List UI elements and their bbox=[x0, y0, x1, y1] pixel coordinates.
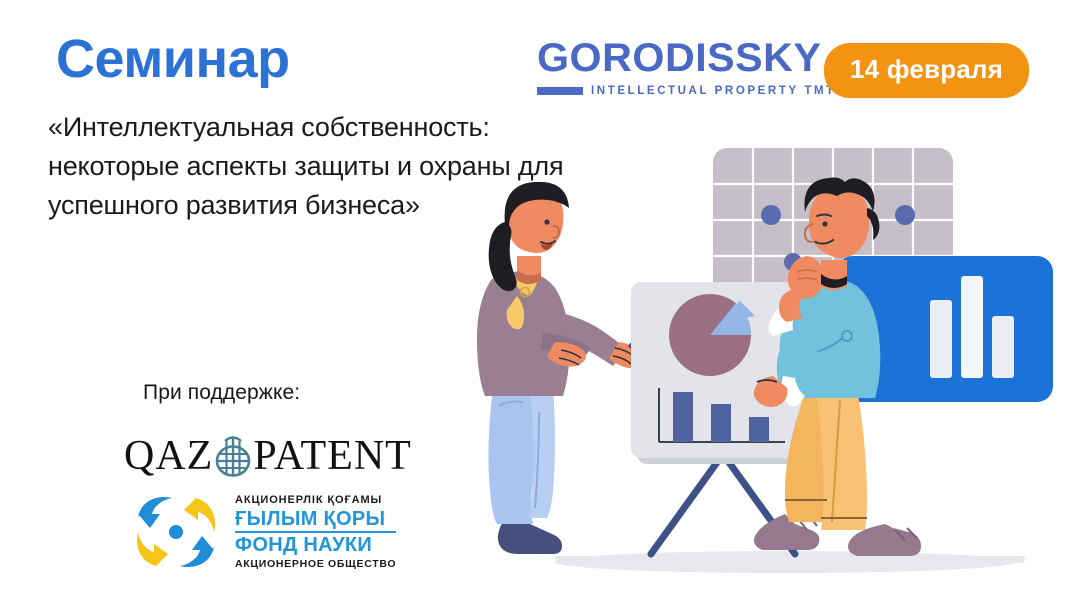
qazpatent-text-left: QAZ bbox=[124, 435, 213, 477]
page-title: Семинар bbox=[56, 32, 290, 86]
support-label: При поддержке: bbox=[143, 381, 300, 405]
pinwheel-arrows-icon bbox=[128, 488, 224, 576]
gorodissky-logo: GORODISSKY INTELLECTUAL PROPERTY TMT bbox=[537, 38, 797, 97]
fund-line-kz-top: АКЦИОНЕРЛІК ҚОҒАМЫ bbox=[235, 495, 396, 506]
fund-of-science-logo: АКЦИОНЕРЛІК ҚОҒАМЫ ҒЫЛЫМ ҚОРЫ ФОНД НАУКИ… bbox=[128, 488, 396, 576]
gorodissky-tagline: INTELLECTUAL PROPERTY TMT bbox=[591, 85, 836, 97]
poster-canvas: Семинар «Интеллектуальная собственность:… bbox=[0, 0, 1080, 608]
shanyrak-emblem-icon bbox=[211, 432, 255, 480]
qazpatent-logo: QAZ PATENT bbox=[124, 432, 412, 480]
gorodissky-wordmark: GORODISSKY bbox=[537, 38, 805, 78]
date-badge: 14 февраля bbox=[824, 43, 1029, 98]
fund-divider bbox=[235, 531, 396, 533]
fund-line-ru-main: ФОНД НАУКИ bbox=[235, 535, 396, 555]
fund-text-block: АКЦИОНЕРЛІК ҚОҒАМЫ ҒЫЛЫМ ҚОРЫ ФОНД НАУКИ… bbox=[235, 495, 396, 570]
business-presentation-illustration bbox=[455, 120, 1080, 608]
dash-icon bbox=[537, 87, 583, 95]
qazpatent-text-right: PATENT bbox=[253, 435, 411, 477]
fund-line-ru-bottom: АКЦИОНЕРНОЕ ОБЩЕСТВО bbox=[235, 559, 396, 570]
fund-line-kz-main: ҒЫЛЫМ ҚОРЫ bbox=[235, 509, 396, 529]
gorodissky-tagline-row: INTELLECTUAL PROPERTY TMT bbox=[537, 85, 797, 97]
